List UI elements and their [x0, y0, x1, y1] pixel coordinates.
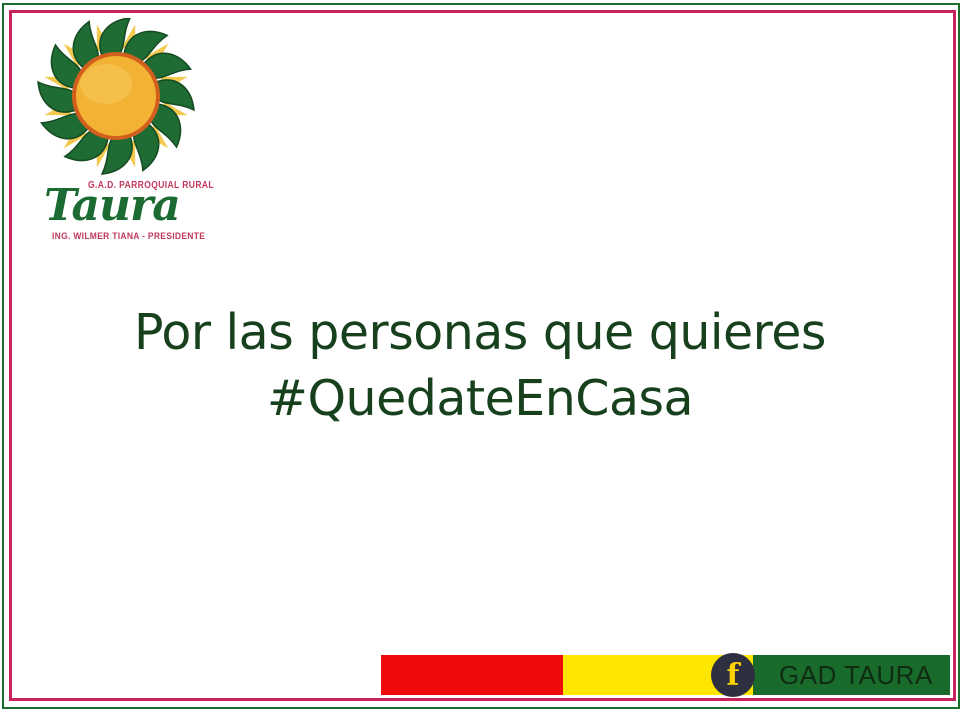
facebook-icon[interactable]: f [711, 653, 755, 697]
slide-canvas: G.A.D. PARROQUIAL RURAL Taura ING. WILME… [0, 0, 960, 720]
main-message: Por las personas que quieres #QuedateEnC… [60, 300, 900, 432]
message-line-2-hashtag: #QuedateEnCasa [60, 366, 900, 432]
facebook-icon-glyph: f [727, 661, 740, 691]
logo-wordmark: G.A.D. PARROQUIAL RURAL Taura ING. WILME… [26, 168, 206, 246]
gad-taura-logo: G.A.D. PARROQUIAL RURAL Taura ING. WILME… [26, 18, 206, 246]
logo-bottom-text: ING. WILMER TIANA - PRESIDENTE [52, 230, 205, 241]
footer-bar-red-segment [381, 655, 563, 695]
footer-social-handle: GAD TAURA [779, 655, 933, 695]
logo-script-text: Taura [44, 180, 180, 231]
sun-logo-icon [26, 18, 206, 178]
message-line-1: Por las personas que quieres [134, 304, 826, 361]
footer-color-bar: f GAD TAURA [381, 655, 950, 695]
